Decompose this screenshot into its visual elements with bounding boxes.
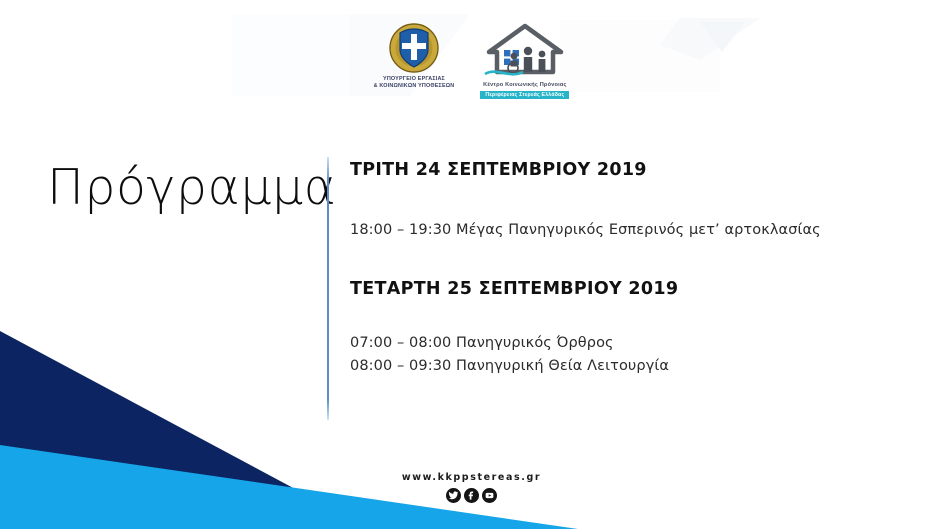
twitter-bird-glyph <box>448 490 459 501</box>
header-logos: ΥΠΟΥΡΓΕΙΟ ΕΡΓΑΣΙΑΣ & ΚΟΙΝΩΝΙΚΩΝ ΥΠΟΘΕΣΕΩ… <box>0 22 943 118</box>
event-item: 07:00 – 08:00 Πανηγυρικός Όρθρος <box>350 332 910 354</box>
greek-coat-of-arms-icon <box>388 22 440 74</box>
website-url[interactable]: www.kkppstereas.gr <box>402 472 541 483</box>
ministry-caption-line1: ΥΠΟΥΡΓΕΙΟ ΕΡΓΑΣΙΑΣ <box>374 76 455 83</box>
kkpp-caption: Κέντρο Κοινωνικής Πρόνοιας <box>483 82 567 89</box>
event-list: 18:00 – 19:30 Μέγας Πανηγυρικός Εσπερινό… <box>350 219 910 241</box>
facebook-f-glyph <box>466 490 477 501</box>
youtube-icon[interactable] <box>482 488 497 503</box>
logo-ministry: ΥΠΟΥΡΓΕΙΟ ΕΡΓΑΣΙΑΣ & ΚΟΙΝΩΝΙΚΩΝ ΥΠΟΘΕΣΕΩ… <box>374 22 455 90</box>
day-heading: ΤΕΤΑΡΤΗ 25 ΣΕΠΤΕΜΒΡΙΟΥ 2019 <box>350 279 910 300</box>
ministry-caption-line2: & ΚΟΙΝΩΝΙΚΩΝ ΥΠΟΘΕΣΕΩΝ <box>374 83 455 90</box>
vertical-divider <box>327 157 329 420</box>
footer: www.kkppstereas.gr <box>0 472 943 503</box>
social-links <box>446 488 497 503</box>
page-title: Πρόγραμμα <box>47 160 312 216</box>
kkpp-region-band: Περιφέρειας Στερεάς Ελλάδας <box>480 91 569 99</box>
event-item: 08:00 – 09:30 Πανηγυρική Θεία Λειτουργία <box>350 355 910 377</box>
slide-canvas: ΥΠΟΥΡΓΕΙΟ ΕΡΓΑΣΙΑΣ & ΚΟΙΝΩΝΙΚΩΝ ΥΠΟΘΕΣΕΩ… <box>0 0 943 529</box>
logo-kkpp: Κέντρο Κοινωνικής Πρόνοιας Περιφέρειας Σ… <box>480 22 569 99</box>
kkpp-caption-line1: Κέντρο Κοινωνικής Πρόνοιας <box>483 82 567 89</box>
ministry-caption: ΥΠΟΥΡΓΕΙΟ ΕΡΓΑΣΙΑΣ & ΚΟΙΝΩΝΙΚΩΝ ΥΠΟΘΕΣΕΩ… <box>374 76 455 90</box>
care-center-house-icon <box>483 22 567 80</box>
programme-list: ΤΡΙΤΗ 24 ΣΕΠΤΕΜΒΡΙΟΥ 2019 18:00 – 19:30 … <box>350 160 910 377</box>
day-block-1: ΤΡΙΤΗ 24 ΣΕΠΤΕΜΒΡΙΟΥ 2019 18:00 – 19:30 … <box>350 160 910 241</box>
youtube-play-glyph <box>484 490 495 501</box>
event-list: 07:00 – 08:00 Πανηγυρικός Όρθρος 08:00 –… <box>350 332 910 377</box>
event-item: 18:00 – 19:30 Μέγας Πανηγυρικός Εσπερινό… <box>350 219 910 241</box>
twitter-icon[interactable] <box>446 488 461 503</box>
day-heading: ΤΡΙΤΗ 24 ΣΕΠΤΕΜΒΡΙΟΥ 2019 <box>350 160 910 181</box>
facebook-icon[interactable] <box>464 488 479 503</box>
day-block-2: ΤΕΤΑΡΤΗ 25 ΣΕΠΤΕΜΒΡΙΟΥ 2019 07:00 – 08:0… <box>350 279 910 377</box>
